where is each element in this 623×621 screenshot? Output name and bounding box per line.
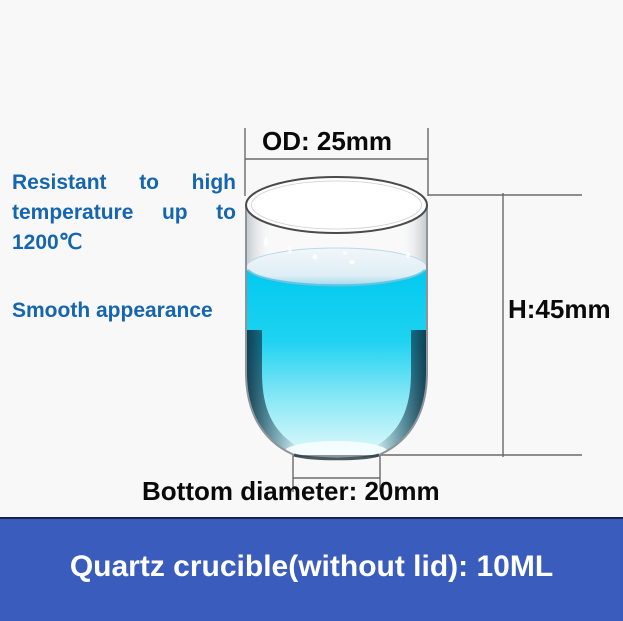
height-label: H:45mm	[508, 294, 611, 325]
product-title-text: Quartz crucible(without lid): 10ML	[70, 550, 553, 590]
feature-line-2: temperature up to	[12, 198, 236, 228]
feature-line-1: Resistant to high	[12, 168, 236, 198]
bottom-diameter-label: Bottom diameter: 20mm	[142, 476, 440, 507]
outer-diameter-label: OD: 25mm	[262, 126, 392, 157]
quartz-crucible-illustration	[0, 0, 623, 517]
feature-line-3: 1200℃	[12, 228, 236, 258]
product-title-banner: Quartz crucible(without lid): 10ML	[0, 517, 623, 621]
feature-smooth-appearance: Smooth appearance	[12, 297, 272, 325]
feature-text-block: Resistant to high temperature up to 1200…	[12, 168, 236, 258]
product-image-canvas: Resistant to high temperature up to 1200…	[0, 0, 623, 621]
